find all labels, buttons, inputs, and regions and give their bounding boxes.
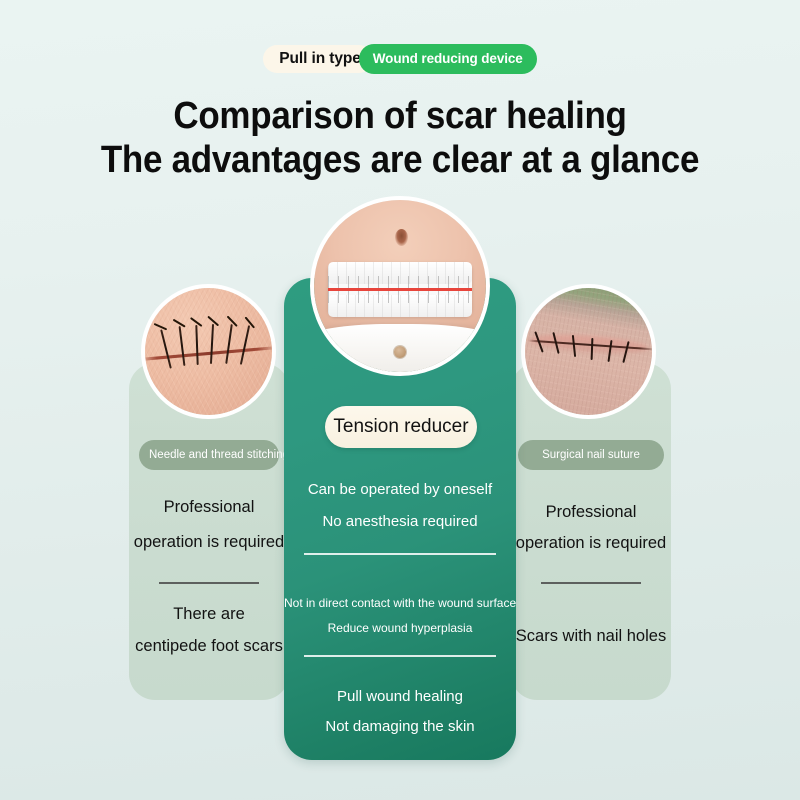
tension-reducer-device — [328, 262, 472, 317]
left-block2-line1: There are — [129, 600, 289, 629]
left-divider — [159, 582, 259, 584]
right-scar-photo-content — [525, 288, 652, 415]
right-block2-line1: Scars with nail holes — [511, 622, 671, 651]
infographic-page: Pull in type Wound reducing device Compa… — [0, 0, 800, 800]
center-block3-line1: Pull wound healing — [284, 683, 516, 711]
center-card-label-pill: Tension reducer — [325, 406, 477, 448]
left-scar-photo-content — [145, 288, 272, 415]
badge-prefix-label: Pull in type — [263, 45, 372, 73]
pants-button — [394, 346, 406, 358]
right-card-label-pill: Surgical nail suture — [518, 440, 664, 470]
center-divider-1 — [304, 553, 496, 555]
left-block2-line2: centipede foot scars — [129, 632, 289, 661]
left-block1-line1: Professional — [129, 493, 289, 522]
headline-line-1: Comparison of scar healing — [32, 95, 768, 138]
right-scar-photo — [521, 284, 656, 419]
right-divider — [541, 582, 641, 584]
right-block1-line2: operation is required — [511, 529, 671, 558]
badge-wrapper: Pull in type Wound reducing device — [263, 44, 536, 74]
right-block1-line1: Professional — [511, 498, 671, 527]
center-divider-2 — [304, 655, 496, 657]
center-block1-line1: Can be operated by oneself — [284, 476, 516, 504]
center-block1-line2: No anesthesia required — [284, 508, 516, 536]
center-device-photo-content — [314, 200, 486, 372]
center-block2-line2: Reduce wound hyperplasia — [284, 616, 516, 641]
badge-highlight-label: Wound reducing device — [359, 44, 537, 74]
top-badge: Pull in type Wound reducing device — [0, 44, 800, 74]
center-block2-line1: Not in direct contact with the wound sur… — [284, 591, 516, 616]
device-red-line — [328, 288, 472, 291]
headline-line-2: The advantages are clear at a glance — [32, 139, 768, 182]
left-block1-line2: operation is required — [129, 528, 289, 557]
left-scar-photo — [141, 284, 276, 419]
center-device-photo — [310, 196, 490, 376]
white-pants — [310, 324, 490, 376]
left-card-label-pill: Needle and thread stitching — [139, 440, 279, 470]
center-block3-line2: Not damaging the skin — [284, 713, 516, 741]
